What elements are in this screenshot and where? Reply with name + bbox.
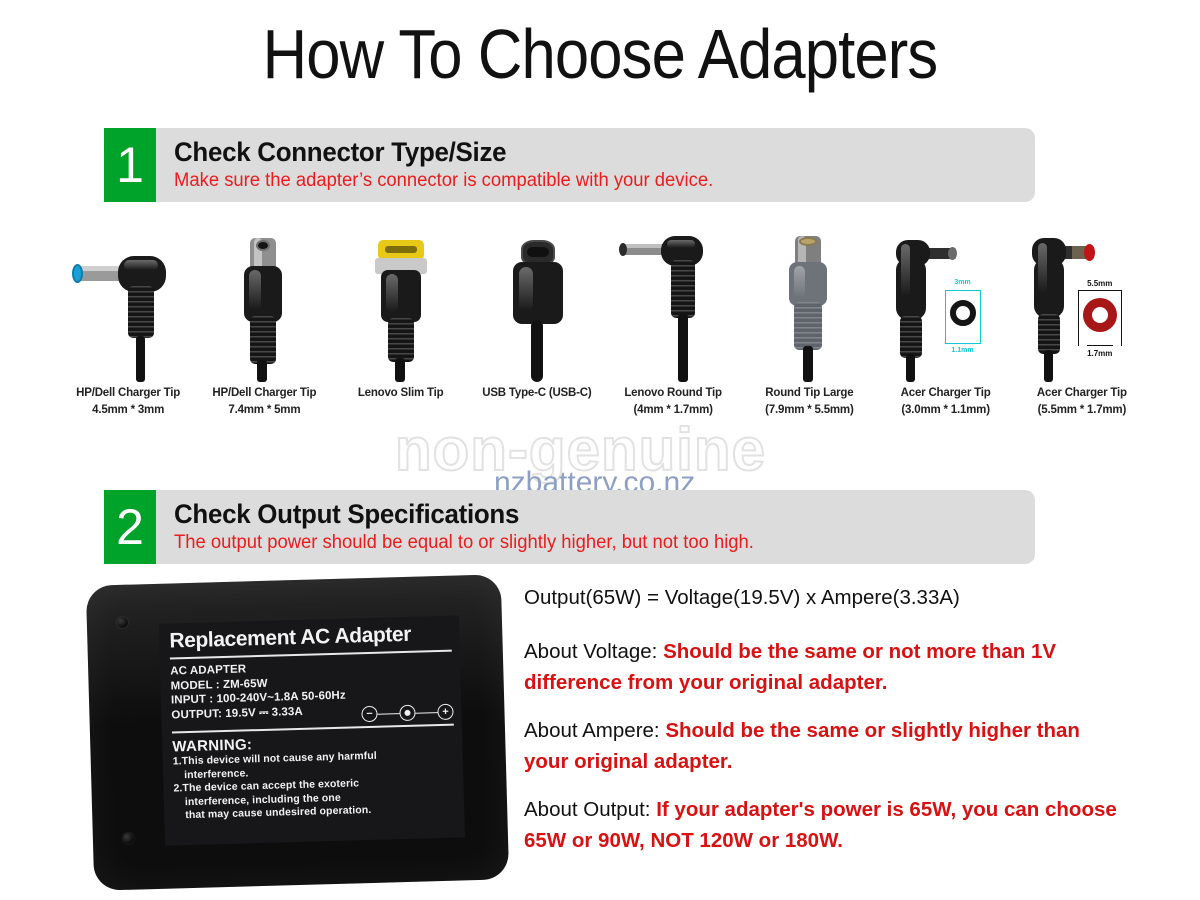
spec-item-voltage: About Voltage: Should be the same or not… [524, 636, 1124, 698]
connector-item-lenovo-round[interactable]: Lenovo Round Tip (4mm * 1.7mm) [605, 232, 741, 442]
section-1-header: 1 Check Connector Type/Size Make sure th… [104, 128, 1035, 202]
section-1-heading: Check Connector Type/Size [174, 136, 708, 168]
spec-key-ampere: About Ampere: [524, 719, 660, 742]
spec-item-output: About Output: If your adapter's power is… [524, 794, 1124, 856]
section-2-number: 2 [104, 490, 156, 564]
infographic-page: How To Choose Adapters 1 Check Connector… [0, 0, 1200, 900]
connector-label: Acer Charger Tip (3.0mm * 1.1mm) [901, 385, 991, 419]
diagram-outer-label: 5.5mm [1072, 279, 1128, 288]
connector-item-lenovo-slim[interactable]: Lenovo Slim Tip [333, 232, 469, 442]
section-2-header: 2 Check Output Specifications The output… [104, 490, 1035, 564]
lenovo-round-tip-connector-icon [605, 232, 741, 382]
lenovo-slim-tip-connector-icon [333, 232, 469, 382]
ac-adapter-photo: Replacement AC Adapter AC ADAPTER MODEL … [86, 574, 509, 890]
connector-label: HP/Dell Charger Tip 4.5mm * 3mm [76, 385, 180, 419]
connector-gallery: HP/Dell Charger Tip 4.5mm * 3mm HP/Dell … [60, 232, 1150, 442]
section-2-heading: Check Output Specifications [174, 498, 748, 530]
section-1-number: 1 [104, 128, 156, 202]
connector-label: Acer Charger Tip (5.5mm * 1.7mm) [1037, 385, 1127, 419]
page-title: How To Choose Adapters [72, 14, 1128, 94]
acer-3mm-charger-tip-connector-icon: 3mm 1.1mm [878, 232, 1014, 382]
diagram-inner-label: 1.7mm [1072, 349, 1128, 358]
round-tip-large-connector-icon [741, 232, 877, 382]
spec-item-ampere: About Ampere: Should be the same or slig… [524, 715, 1124, 777]
connector-label: Lenovo Round Tip (4mm * 1.7mm) [624, 385, 722, 419]
adapter-screw [123, 833, 134, 844]
spec-key-output: About Output: [524, 798, 651, 821]
section-1-subheading: Make sure the adapter’s connector is com… [174, 168, 713, 194]
output-equation: Output(65W) = Voltage(19.5V) x Ampere(3.… [524, 586, 1124, 610]
acer-55mm-dimension-diagram: 5.5mm 1.7mm [1072, 284, 1128, 354]
section-2-subheading: The output power should be equal to or s… [174, 530, 754, 556]
diagram-inner-label: 1.1mm [938, 347, 988, 354]
connector-item-hp-dell-74mm[interactable]: HP/Dell Charger Tip 7.4mm * 5mm [196, 232, 332, 442]
polarity-bar-right [415, 712, 437, 714]
spec-key-voltage: About Voltage: [524, 640, 657, 663]
usb-type-c-connector-icon [469, 232, 605, 382]
diagram-outer-label: 3mm [938, 279, 988, 286]
connector-label: USB Type-C (USB-C) [482, 385, 591, 402]
adapter-label: Replacement AC Adapter AC ADAPTER MODEL … [159, 615, 465, 845]
connector-item-usb-c[interactable]: USB Type-C (USB-C) [469, 232, 605, 442]
polarity-bar-left [377, 713, 399, 715]
adapter-brand-line: Replacement AC Adapter [169, 622, 452, 654]
connector-item-acer-30mm[interactable]: 3mm 1.1mm Acer Charger Tip (3.0mm * 1.1m… [878, 232, 1014, 442]
hp-dell-barrel-tip-connector-icon [196, 232, 332, 382]
connector-label: Round Tip Large (7.9mm * 5.5mm) [765, 385, 853, 419]
polarity-diagram: − + [361, 702, 454, 725]
acer-55mm-charger-tip-connector-icon: 5.5mm 1.7mm [1014, 232, 1150, 382]
acer-3mm-dimension-diagram: 3mm 1.1mm [938, 290, 988, 352]
output-spec-text: Output(65W) = Voltage(19.5V) x Ampere(3.… [524, 586, 1124, 856]
connector-item-hp-dell-45mm[interactable]: HP/Dell Charger Tip 4.5mm * 3mm [60, 232, 196, 442]
hp-dell-blue-tip-connector-icon [60, 232, 196, 382]
connector-item-acer-55mm[interactable]: 5.5mm 1.7mm Acer Charger Tip (5.5mm * 1.… [1014, 232, 1150, 442]
polarity-positive-symbol: + [437, 704, 453, 720]
connector-item-round-large[interactable]: Round Tip Large (7.9mm * 5.5mm) [741, 232, 877, 442]
connector-label: HP/Dell Charger Tip 7.4mm * 5mm [212, 385, 316, 419]
polarity-negative-symbol: − [361, 706, 377, 722]
connector-label: Lenovo Slim Tip [358, 385, 444, 402]
